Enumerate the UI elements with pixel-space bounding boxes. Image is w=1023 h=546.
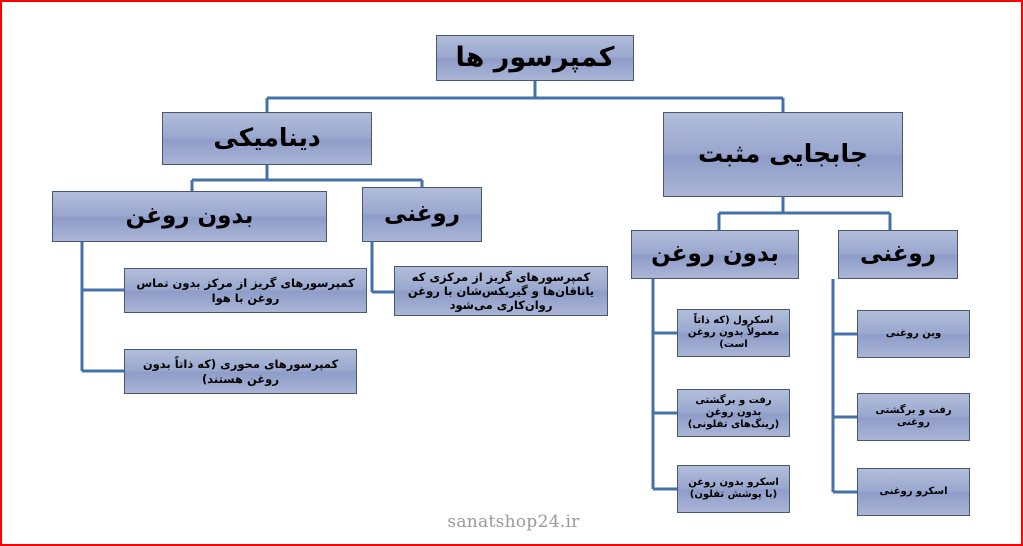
leaf-screw-oil-free-teflon-coating[interactable]: اسکرو بدون روغن (با پوشش تفلون): [677, 465, 790, 513]
leaf-scroll-oil-free[interactable]: اسکرول (که ذاتاً معمولاً بدون روغن است): [677, 309, 790, 357]
leaf-centrifugal-oil-lubricated-bearings[interactable]: کمپرسورهای گریز از مرکزی که یاتاقان‌ها و…: [394, 266, 608, 316]
node-pd-oiled[interactable]: روغنی: [838, 230, 958, 279]
diagram-canvas: کمپرسور ها دینامیکی جابجایی مثبت بدون رو…: [0, 0, 1023, 546]
watermark-text: sanatshop24.ir: [2, 512, 1023, 532]
leaf-screw-oiled[interactable]: اسکرو روغنی: [857, 468, 970, 516]
leaf-vane-oiled[interactable]: وین روغنی: [857, 310, 970, 358]
leaf-reciprocating-oiled[interactable]: رفت و برگشتی روغنی: [857, 393, 970, 441]
node-dynamic-oiled[interactable]: روغنی: [362, 187, 482, 242]
node-root[interactable]: کمپرسور ها: [436, 35, 634, 81]
leaf-reciprocating-oil-free-teflon-rings[interactable]: رفت و برگشتی بدون روغن (رینگ‌های تفلونی): [677, 389, 790, 437]
node-dynamic[interactable]: دینامیکی: [162, 112, 372, 165]
leaf-axial-inherently-oil-free[interactable]: کمپرسورهای محوری (که ذاتاً بدون روغن هست…: [124, 349, 357, 394]
node-dynamic-oil-free[interactable]: بدون روغن: [52, 191, 327, 242]
leaf-centrifugal-no-oil-contact[interactable]: کمپرسورهای گریز از مرکز بدون تماس روغن ب…: [124, 268, 367, 313]
node-positive-displacement[interactable]: جابجایی مثبت: [663, 112, 903, 197]
node-pd-oil-free[interactable]: بدون روغن: [631, 230, 799, 279]
